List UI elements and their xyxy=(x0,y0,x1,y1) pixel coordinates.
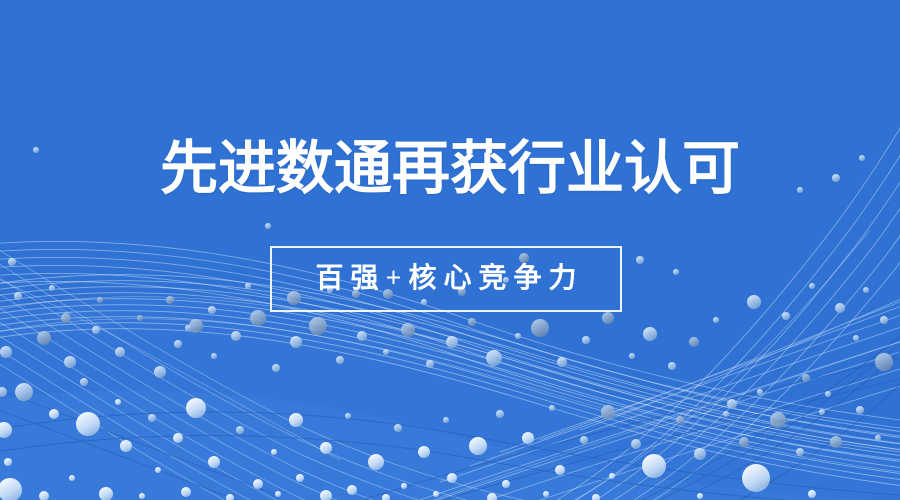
decorative-wave-background xyxy=(0,0,900,500)
promo-banner: 先进数通再获行业认可 百强+核心竞争力 xyxy=(0,0,900,500)
